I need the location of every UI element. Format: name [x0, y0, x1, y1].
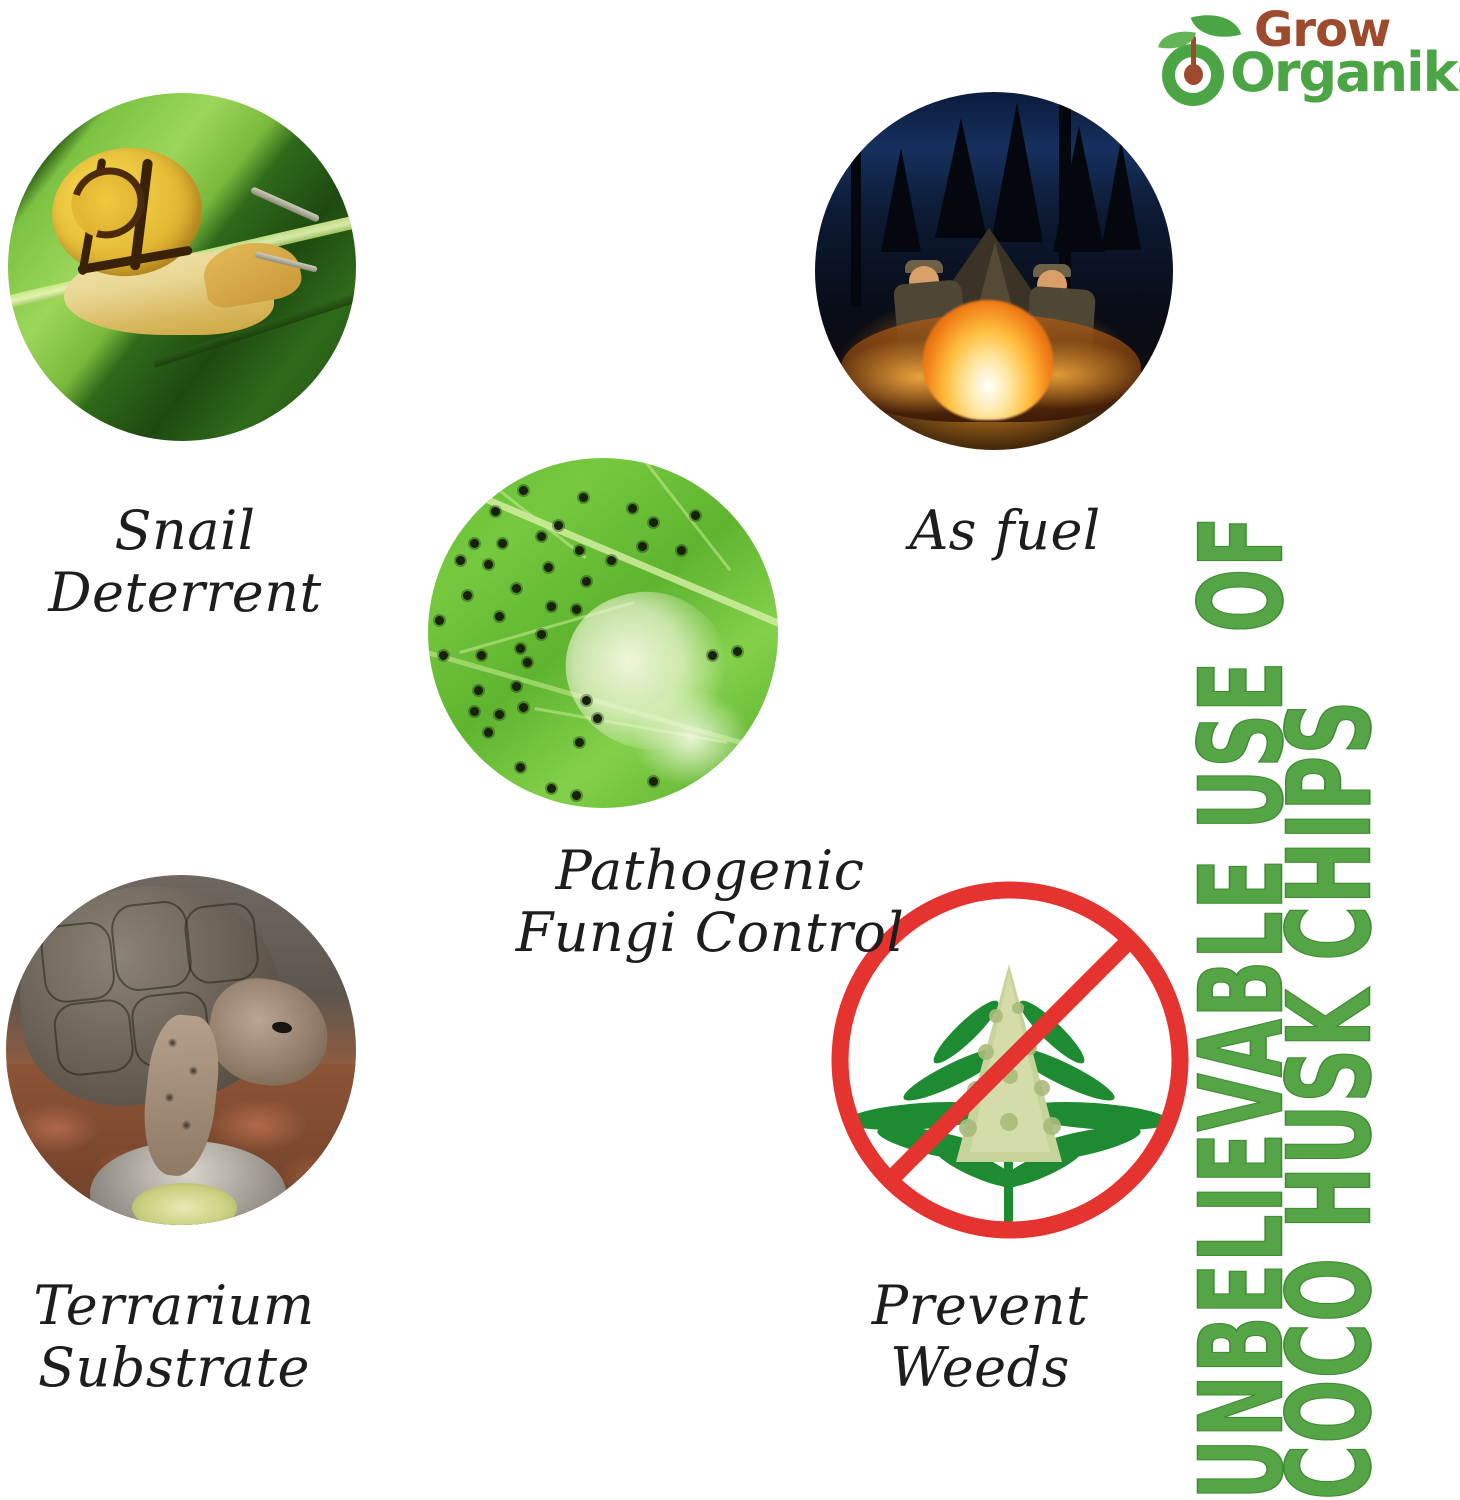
conifer-tree	[1101, 140, 1141, 250]
shell-scute	[182, 900, 261, 985]
shell-scute	[109, 899, 194, 993]
fungal-spot	[547, 602, 556, 611]
fungal-spot	[470, 707, 479, 716]
fungal-spot	[554, 521, 563, 530]
feature-image-pathogenic-fungi-control	[428, 458, 778, 808]
fungal-spot	[593, 714, 602, 723]
fungal-spot	[512, 584, 521, 593]
fungal-spot	[575, 738, 584, 747]
logo-seed-shape	[1184, 64, 1203, 85]
infographic-page: Grow Organiks	[0, 0, 1460, 1500]
feature-label-terrarium-substrate: Terrarium Substrate	[0, 1275, 354, 1398]
fungal-spot	[638, 542, 647, 551]
fungal-spot	[582, 577, 591, 586]
tree-trunk	[851, 97, 861, 307]
fungal-spot	[537, 630, 546, 639]
shell-scute	[38, 920, 117, 1005]
fungal-spot	[579, 493, 588, 502]
fungal-spot	[733, 647, 742, 656]
headline-line-2-text: COCO HUSK CHIPS	[1273, 699, 1388, 1500]
fungal-spot	[491, 507, 500, 516]
shell-scute	[52, 996, 136, 1077]
vertical-headline: UNBELIEVABLE USE OF COCO HUSK CHIPS	[1222, 612, 1460, 1500]
feature-image-terrarium-substrate	[6, 875, 356, 1225]
fungal-spot	[477, 651, 486, 660]
feature-image-snail-deterrent	[8, 93, 356, 441]
fungal-spot	[572, 791, 581, 800]
fungal-spot	[582, 696, 591, 705]
fungal-spot	[691, 511, 700, 520]
fungal-spot	[519, 703, 528, 712]
feature-label-as-fuel: As fuel	[855, 500, 1155, 562]
fungal-spot	[435, 616, 444, 625]
feature-label-pathogenic-fungi-control: Pathogenic Fungi Control	[420, 840, 1000, 963]
logo-word-organiks: Organiks	[1230, 46, 1460, 100]
conifer-tree	[991, 102, 1043, 242]
fungal-spot	[498, 539, 507, 548]
fungal-spot	[495, 710, 504, 719]
fungal-spot	[537, 532, 546, 541]
fungal-spot	[677, 546, 686, 555]
fungal-spot	[470, 539, 479, 548]
powdery-mildew-patch	[631, 689, 750, 787]
fungal-spot	[519, 486, 528, 495]
conifer-tree	[935, 118, 987, 238]
campfire-flames	[923, 300, 1053, 420]
fungal-spot	[547, 784, 556, 793]
brand-logo: Grow Organiks	[1152, 8, 1452, 110]
fungal-spot	[572, 605, 581, 614]
fungal-spot	[463, 591, 472, 600]
fungal-spot	[649, 777, 658, 786]
feature-label-snail-deterrent: Snail Deterrent	[20, 500, 350, 623]
logo-wordmark: Grow Organiks	[1238, 8, 1452, 110]
fungal-spot	[628, 504, 637, 513]
fungal-spot	[456, 556, 465, 565]
lettuce-food	[132, 1183, 237, 1225]
fungal-spot	[512, 682, 521, 691]
feature-label-prevent-weeds: Prevent Weeds	[830, 1275, 1130, 1398]
fungal-spot	[607, 556, 616, 565]
fungal-spot	[575, 546, 584, 555]
fungal-spot	[439, 651, 448, 660]
headline-line-2: COCO HUSK CHIPS	[1314, 715, 1388, 1500]
fungal-spot	[516, 644, 525, 653]
fungal-spot	[516, 763, 525, 772]
fungal-spot	[495, 612, 504, 621]
feature-image-as-fuel	[815, 92, 1173, 450]
fungal-spot	[484, 560, 493, 569]
fungal-spot	[544, 563, 553, 572]
fungal-spot	[649, 518, 658, 527]
fungal-spot	[708, 651, 717, 660]
fungal-spot	[523, 658, 532, 667]
fungal-spot	[474, 686, 483, 695]
fungal-spot	[484, 728, 493, 737]
